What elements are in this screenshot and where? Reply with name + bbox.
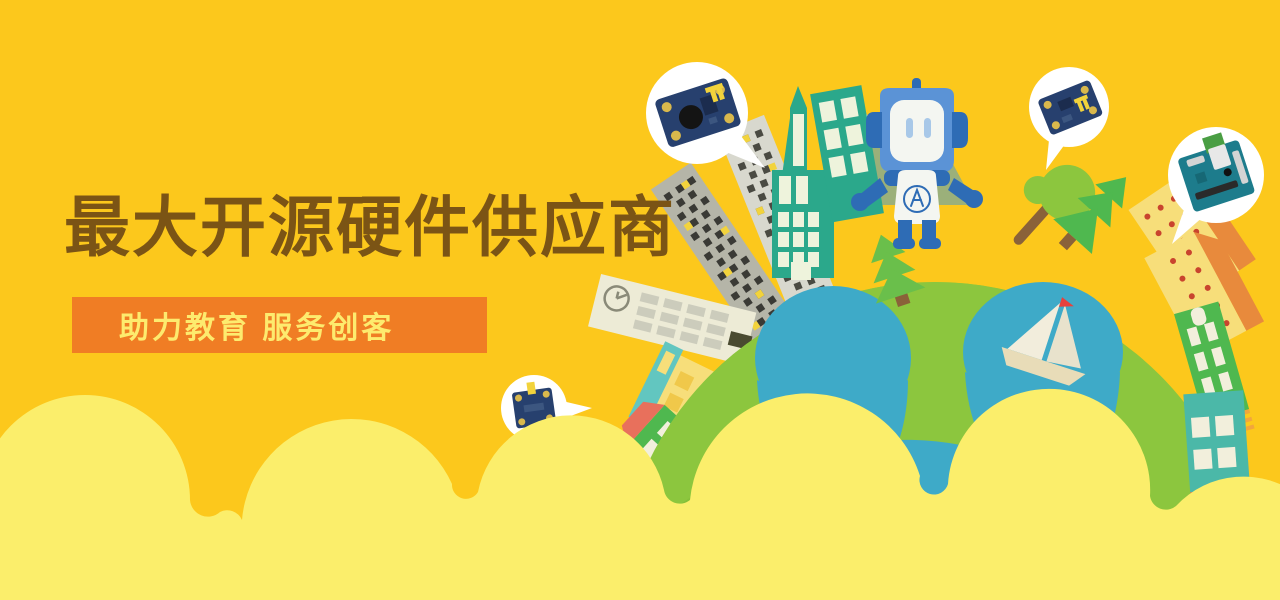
subtitle-banner: 助力教育 服务创客 <box>72 297 487 353</box>
promo-banner: 最大开源硬件供应商 助力教育 服务创客 <box>0 0 1280 600</box>
robot-eye-left <box>906 118 913 138</box>
text-content: 最大开源硬件供应商 助力教育 服务创客 <box>0 0 640 600</box>
robot-eye-right <box>924 118 931 138</box>
page-title: 最大开源硬件供应商 <box>64 188 676 266</box>
subtitle-text: 助力教育 服务创客 <box>119 303 394 347</box>
